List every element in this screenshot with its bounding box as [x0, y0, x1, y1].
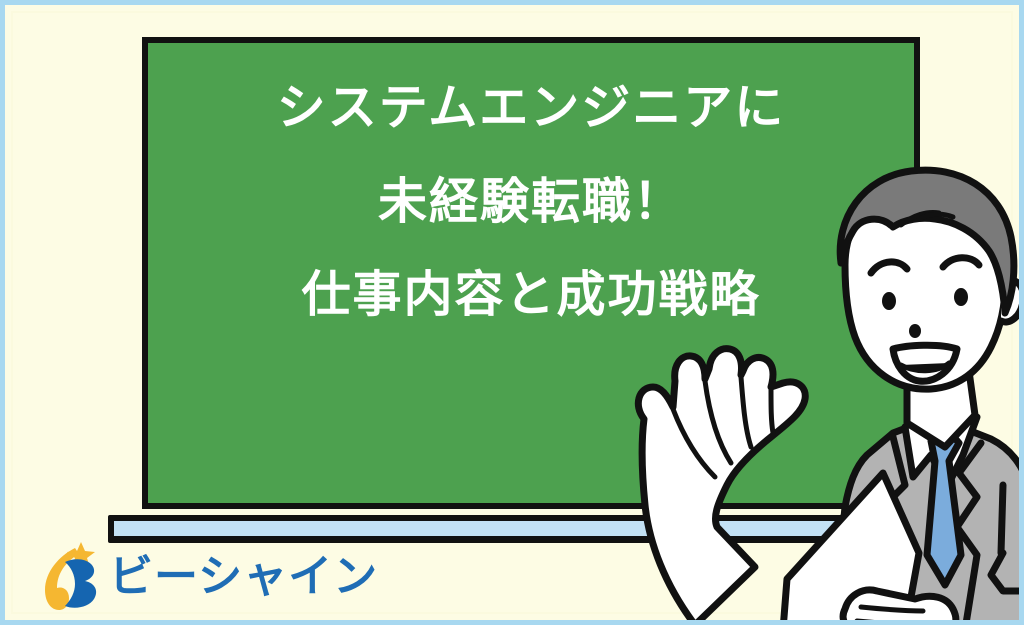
presenter-illustration — [605, 155, 1024, 625]
brand-logo-mark-icon — [41, 542, 103, 612]
brand-logo[interactable]: ビーシャイン — [41, 541, 378, 613]
presenter-open-hand — [638, 349, 805, 625]
image-canvas: システムエンジニアに 未経験転職！ 仕事内容と成功戦略 — [0, 0, 1024, 625]
presenter-right-hand — [843, 590, 956, 625]
brand-logo-text: ビーシャイン — [109, 555, 378, 599]
presenter-necktie — [927, 427, 961, 585]
